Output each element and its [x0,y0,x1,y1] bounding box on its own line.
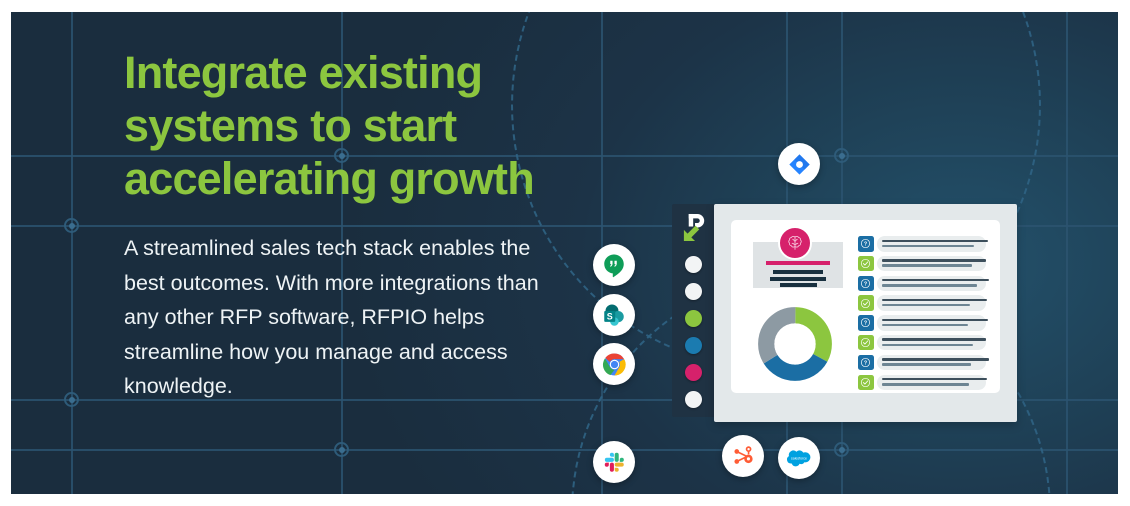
qa-row-list: ? [858,236,986,394]
grid-node [64,392,79,407]
check-icon [858,256,874,272]
svg-text:?: ? [864,242,867,248]
svg-text:S: S [607,311,613,321]
grid-line-vertical [71,12,73,494]
card-text-line [770,277,826,281]
table-row[interactable]: ? [858,315,986,331]
slack-icon[interactable] [593,441,635,483]
hubspot-icon[interactable] [722,435,764,477]
row-text [877,295,987,311]
dashboard-sidebar [672,204,717,417]
nav-dot-5[interactable] [685,364,702,381]
row-text [877,355,987,371]
row-text [877,335,987,351]
check-icon [858,375,874,391]
check-icon [858,335,874,351]
table-row[interactable] [858,295,986,311]
nav-dot-4[interactable] [685,337,702,354]
svg-text:salesforce: salesforce [791,457,807,461]
table-row[interactable] [858,335,986,351]
row-text [877,375,987,391]
card-text-line [773,270,823,274]
svg-text:?: ? [864,281,867,287]
row-text [877,276,987,292]
nav-dot-3[interactable] [685,310,702,327]
page-title: Integrate existing systems to start acce… [124,46,594,205]
grid-line-vertical [1066,12,1068,494]
question-icon: ? [858,236,874,252]
table-row[interactable]: ? [858,236,986,252]
question-icon: ? [858,355,874,371]
grid-node [64,218,79,233]
row-text [877,315,987,331]
rfpio-logo [681,212,710,243]
card-text-line [780,283,817,287]
dashboard-screen: ? [731,220,1000,393]
nav-dot-1[interactable] [685,256,702,273]
row-text [877,236,987,252]
nav-dot-6[interactable] [685,391,702,408]
hero-banner: Integrate existing systems to start acce… [11,12,1118,494]
hero-copy: Integrate existing systems to start acce… [124,46,594,404]
svg-text:?: ? [864,361,867,367]
salesforce-icon[interactable]: salesforce [778,437,820,479]
svg-text:?: ? [864,321,867,327]
question-icon: ? [858,315,874,331]
jira-icon[interactable] [778,143,820,185]
hangouts-icon[interactable] [593,244,635,286]
donut-chart [757,306,833,382]
chrome-icon[interactable] [593,343,635,385]
table-row[interactable] [858,256,986,272]
check-icon [858,295,874,311]
sharepoint-icon[interactable]: S [593,294,635,336]
nav-dot-2[interactable] [685,283,702,300]
table-row[interactable] [858,375,986,391]
card-accent-rule [766,261,830,265]
question-icon: ? [858,276,874,292]
brain-icon [778,226,812,260]
table-row[interactable]: ? [858,355,986,371]
hero-description: A streamlined sales tech stack enables t… [124,231,549,404]
row-text [877,256,987,272]
grid-node [334,442,349,457]
dashboard-monitor-frame: ? [714,204,1017,422]
table-row[interactable]: ? [858,276,986,292]
